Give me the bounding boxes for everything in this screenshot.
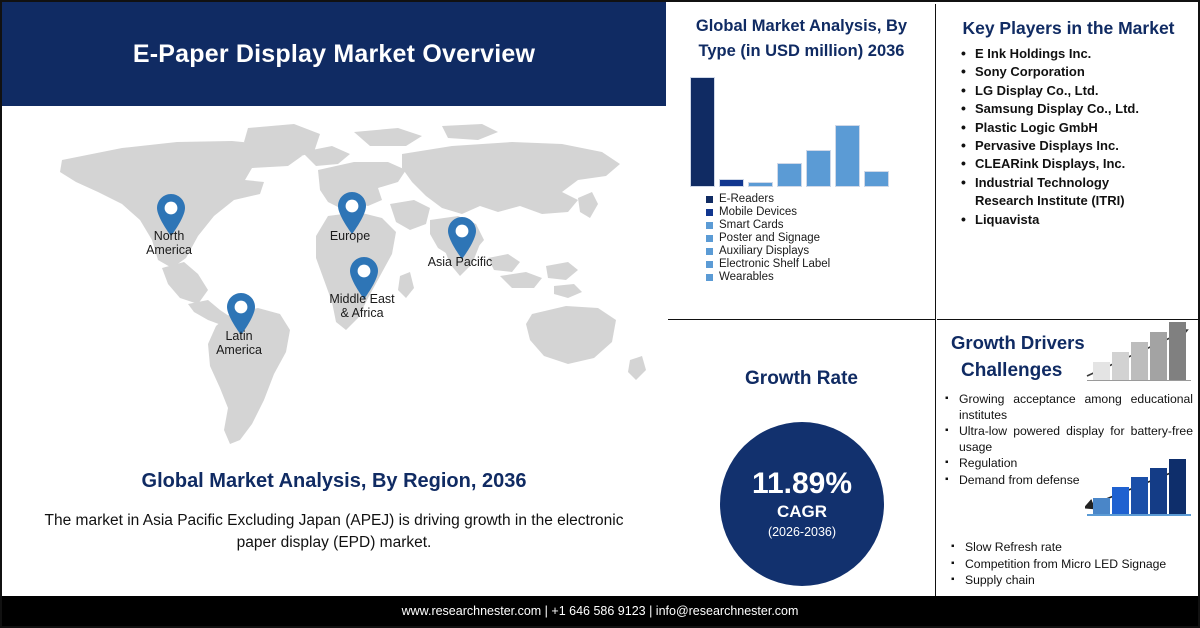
- world-map-panel: North America Europe Asia Pacific Middle…: [2, 108, 666, 464]
- list-item: Growing acceptance among educational ins…: [943, 392, 1193, 423]
- bar-5: [835, 125, 860, 187]
- page-title: E-Paper Display Market Overview: [133, 40, 535, 69]
- legend-item[interactable]: Electronic Shelf Label: [706, 258, 935, 270]
- mini-bar-3: [1150, 468, 1167, 514]
- chart-title: Global Market Analysis, By Type (in USD …: [668, 4, 935, 64]
- world-map-graphic: [2, 108, 666, 464]
- legend-item[interactable]: Wearables: [706, 271, 935, 283]
- map-label-europe: Europe: [290, 230, 410, 244]
- bar-6: [864, 171, 889, 187]
- bar-4: [806, 150, 831, 187]
- legend-label: Electronic Shelf Label: [719, 258, 830, 270]
- drivers-challenges-panel: Growth Drivers Growing acceptance among …: [937, 320, 1200, 598]
- list-item: Ultra-low powered display for battery-fr…: [943, 424, 1193, 455]
- list-item: Research Institute (ITRI): [961, 192, 1192, 210]
- mini-bar-2: [1131, 477, 1148, 514]
- key-players-title: Key Players in the Market: [937, 4, 1200, 45]
- bar-2: [748, 182, 773, 187]
- list-item: Industrial Technology: [961, 174, 1192, 192]
- cagr-label: CAGR: [777, 501, 827, 523]
- list-item: Pervasive Displays Inc.: [961, 137, 1192, 155]
- map-label-asia-pacific: Asia Pacific: [400, 256, 520, 270]
- key-players-panel: Key Players in the Market E Ink Holdings…: [937, 4, 1200, 320]
- challenges-trend-chart: [1085, 460, 1193, 518]
- list-item: LG Display Co., Ltd.: [961, 82, 1192, 100]
- legend-swatch-icon: [706, 196, 713, 203]
- region-analysis-title: Global Market Analysis, By Region, 2036: [2, 470, 666, 493]
- mini-bar-1: [1112, 487, 1129, 514]
- footer-contact-text: www.researchnester.com | +1 646 586 9123…: [402, 604, 799, 618]
- cagr-circle: 11.89% CAGR (2026-2036): [720, 422, 884, 586]
- left-column: E-Paper Display Market Overview: [2, 2, 666, 598]
- list-item: Samsung Display Co., Ltd.: [961, 100, 1192, 118]
- list-item: Plastic Logic GmbH: [961, 119, 1192, 137]
- chart-legend: E-ReadersMobile DevicesSmart CardsPoster…: [706, 193, 935, 283]
- mini-bar-4: [1169, 459, 1186, 514]
- growth-rate-panel: Growth Rate 11.89% CAGR (2026-2036): [668, 320, 936, 598]
- header-title-bar: E-Paper Display Market Overview: [2, 2, 666, 106]
- legend-swatch-icon: [706, 261, 713, 268]
- map-label-north-america: North America: [109, 230, 229, 257]
- chart-baseline: [1087, 514, 1191, 516]
- list-item: Competition from Micro LED Signage: [949, 557, 1193, 573]
- legend-label: Smart Cards: [719, 219, 784, 231]
- legend-swatch-icon: [706, 274, 713, 281]
- infographic-page: E-Paper Display Market Overview: [0, 0, 1200, 628]
- map-label-middle-east-africa: Middle East & Africa: [302, 293, 422, 320]
- region-analysis-description: The market in Asia Pacific Excluding Jap…: [24, 510, 644, 554]
- legend-item[interactable]: Auxiliary Displays: [706, 245, 935, 257]
- bar-chart: [668, 67, 936, 187]
- mini-bar-2: [1131, 342, 1148, 380]
- bar-0: [690, 77, 715, 187]
- key-players-list: E Ink Holdings Inc.Sony CorporationLG Di…: [937, 45, 1200, 229]
- mini-bar-0: [1093, 362, 1110, 380]
- growth-rate-title: Growth Rate: [668, 320, 935, 390]
- market-by-type-panel: Global Market Analysis, By Type (in USD …: [668, 4, 936, 320]
- legend-label: Mobile Devices: [719, 206, 797, 218]
- legend-label: Poster and Signage: [719, 232, 820, 244]
- legend-label: Auxiliary Displays: [719, 245, 809, 257]
- legend-item[interactable]: Poster and Signage: [706, 232, 935, 244]
- list-item: CLEARink Displays, Inc.: [961, 155, 1192, 173]
- legend-item[interactable]: E-Readers: [706, 193, 935, 205]
- bar-3: [777, 163, 802, 187]
- mini-bar-1: [1112, 352, 1129, 380]
- legend-swatch-icon: [706, 222, 713, 229]
- legend-swatch-icon: [706, 248, 713, 255]
- list-item: E Ink Holdings Inc.: [961, 45, 1192, 63]
- map-label-latin-america: Latin America: [179, 330, 299, 357]
- cagr-period: (2026-2036): [768, 523, 836, 541]
- mini-bar-3: [1150, 332, 1167, 380]
- legend-item[interactable]: Smart Cards: [706, 219, 935, 231]
- legend-label: E-Readers: [719, 193, 774, 205]
- list-item: Liquavista: [961, 211, 1192, 229]
- growth-drivers-trend-chart: [1085, 326, 1193, 384]
- bar-1: [719, 179, 744, 187]
- cagr-percent: 11.89%: [752, 467, 852, 501]
- legend-item[interactable]: Mobile Devices: [706, 206, 935, 218]
- map-pin-asia-pacific[interactable]: [445, 216, 479, 260]
- list-item: Slow Refresh rate: [949, 540, 1193, 556]
- legend-label: Wearables: [719, 271, 774, 283]
- legend-swatch-icon: [706, 209, 713, 216]
- footer-bar: www.researchnester.com | +1 646 586 9123…: [2, 596, 1198, 626]
- mini-bar-0: [1093, 498, 1110, 514]
- mini-bar-4: [1169, 322, 1186, 380]
- legend-swatch-icon: [706, 235, 713, 242]
- list-item: Sony Corporation: [961, 63, 1192, 81]
- list-item: Supply chain: [949, 573, 1193, 589]
- challenges-list: Slow Refresh rateCompetition from Micro …: [949, 540, 1193, 590]
